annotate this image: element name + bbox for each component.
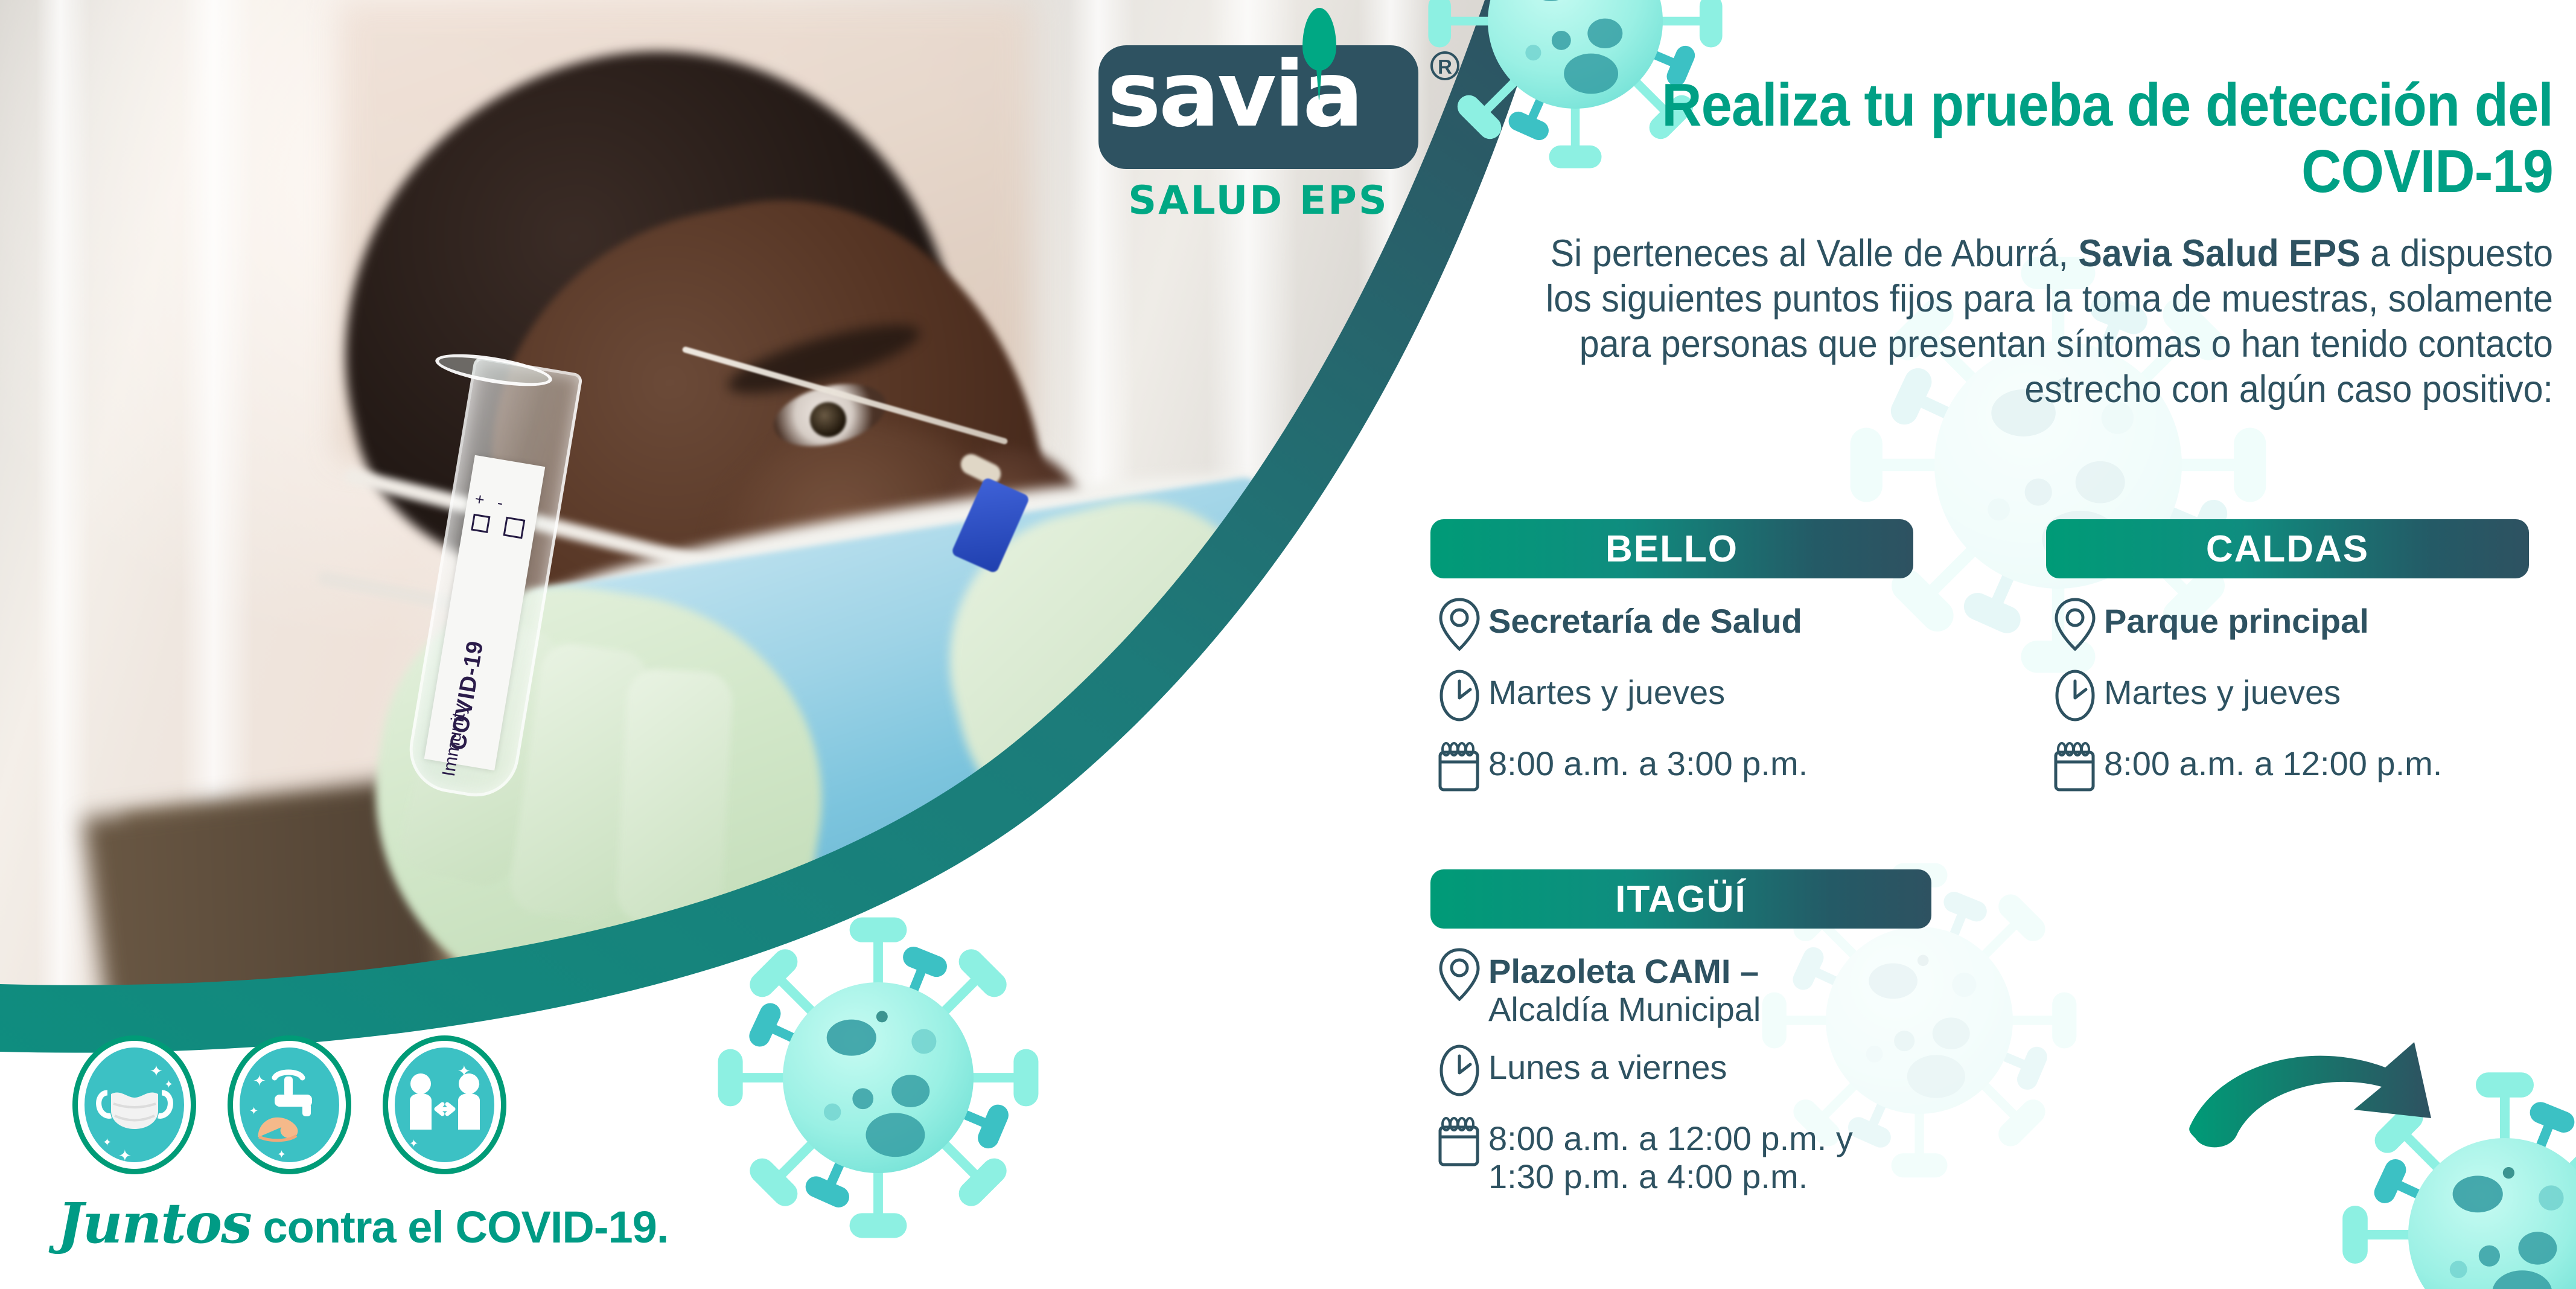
map-pin-icon xyxy=(2046,595,2104,653)
sparkle-icon: ✦ xyxy=(118,1148,132,1162)
card-place-sub: Alcaldía Municipal xyxy=(1488,991,1761,1029)
card-place-main: Plazoleta CAMI – xyxy=(1488,952,1759,990)
sparkle-icon: ✦ xyxy=(103,1137,112,1148)
card-row-days: Martes y jueves xyxy=(2046,667,2529,724)
sparkle-icon: ✦ xyxy=(409,1138,418,1149)
card-header-caldas: CALDAS xyxy=(2046,519,2529,578)
label-plus-minus: +- xyxy=(473,490,517,515)
virus-decor-main xyxy=(718,918,1039,1238)
card-title: BELLO xyxy=(1605,528,1738,571)
card-place: Parque principal xyxy=(2104,595,2369,641)
card-row-hours: 8:00 a.m. a 12:00 p.m. y 1:30 p.m. a 4:0… xyxy=(1430,1113,1931,1195)
sparkle-icon: ✦ xyxy=(249,1105,258,1116)
logo-subtitle: SALUD EPS xyxy=(1098,178,1418,223)
card-details: Secretaría de Salud Martes y jueves 8:00… xyxy=(1430,578,1913,796)
card-row-place: Secretaría de Salud xyxy=(1430,595,1913,653)
card-place: Secretaría de Salud xyxy=(1488,595,1802,641)
badge-handwashing[interactable]: ✦ ✦ ✦ xyxy=(228,1035,351,1174)
sparkle-icon: ✦ xyxy=(164,1079,173,1090)
location-card-bello[interactable]: BELLO Secretaría de Salud Martes y jueve… xyxy=(1430,519,1913,809)
map-pin-icon xyxy=(1430,945,1488,1003)
sparkle-icon: ✦ xyxy=(457,1063,471,1079)
logo-wordmark: savia xyxy=(1074,33,1394,157)
intro-paragraph: Si perteneces al Valle de Aburrá, Savia … xyxy=(1520,231,2553,412)
clock-icon xyxy=(1430,667,1488,724)
card-place: Plazoleta CAMI – Alcaldía Municipal xyxy=(1488,945,1761,1028)
sparkle-icon: ✦ xyxy=(472,1079,481,1090)
window-blind xyxy=(36,0,91,999)
card-header-bello: BELLO xyxy=(1430,519,1913,578)
tagline-bold: contra el COVID-19. xyxy=(251,1202,668,1252)
campaign-tagline: Juntos contra el COVID-19. xyxy=(57,1191,668,1256)
location-card-caldas[interactable]: CALDAS Parque principal Martes y jueves xyxy=(2046,519,2529,809)
handwashing-faucet-icon: ✦ ✦ ✦ xyxy=(240,1048,339,1162)
card-hours-line1: 8:00 a.m. a 12:00 p.m. y xyxy=(1488,1119,1853,1157)
map-pin-icon xyxy=(1430,595,1488,653)
label-checkbox-negative xyxy=(503,517,525,539)
card-title: CALDAS xyxy=(2206,528,2369,571)
card-details: Parque principal Martes y jueves 8:00 a.… xyxy=(2046,578,2529,796)
calendar-icon xyxy=(1430,1113,1488,1171)
patient-pupil xyxy=(810,402,846,437)
glove-finger xyxy=(615,668,734,927)
social-distancing-icon: ✦ ✦ ✦ xyxy=(395,1048,494,1162)
card-row-place: Plazoleta CAMI – Alcaldía Municipal xyxy=(1430,945,1931,1028)
card-hours: 8:00 a.m. a 3:00 p.m. xyxy=(1488,738,1808,783)
clock-icon xyxy=(2046,667,2104,724)
prevention-badges: ✦ ✦ ✦ ✦ ✦ ✦ ✦ xyxy=(72,1035,506,1174)
card-details: Plazoleta CAMI – Alcaldía Municipal Lune… xyxy=(1430,929,1931,1196)
card-row-hours: 8:00 a.m. a 3:00 p.m. xyxy=(1430,738,1913,796)
page-title: Realiza tu prueba de detección del COVID… xyxy=(1559,72,2553,205)
badge-face-mask[interactable]: ✦ ✦ ✦ ✦ xyxy=(72,1035,196,1174)
poster-canvas: +- COVID-19 Immunity xyxy=(0,0,2576,1289)
card-row-days: Lunes a viernes xyxy=(1430,1041,1931,1099)
content-panel: savia R SALUD EPS Realiza tu prueba de d… xyxy=(1436,0,2576,1289)
card-row-hours: 8:00 a.m. a 12:00 p.m. xyxy=(2046,738,2529,796)
calendar-icon xyxy=(1430,738,1488,796)
sparkle-icon: ✦ xyxy=(277,1149,286,1160)
face-mask-icon: ✦ ✦ ✦ ✦ xyxy=(84,1048,184,1162)
card-hours: 8:00 a.m. a 12:00 p.m. xyxy=(2104,738,2442,783)
label-checkbox-positive xyxy=(471,514,490,533)
savia-logo: savia R SALUD EPS xyxy=(1074,33,1449,232)
clock-icon xyxy=(1430,1041,1488,1099)
card-days: Lunes a viernes xyxy=(1488,1041,1727,1087)
card-hours-line2: 1:30 p.m. a 4:00 p.m. xyxy=(1488,1158,1853,1196)
card-row-place: Parque principal xyxy=(2046,595,2529,653)
card-title: ITAGÜÍ xyxy=(1615,878,1747,921)
sparkle-icon: ✦ xyxy=(253,1073,266,1089)
card-hours: 8:00 a.m. a 12:00 p.m. y 1:30 p.m. a 4:0… xyxy=(1488,1113,1853,1195)
registered-trademark-icon: R xyxy=(1430,51,1459,80)
tagline-script: Juntos xyxy=(57,1191,251,1256)
location-card-itagui[interactable]: ITAGÜÍ Plazoleta CAMI – Alcaldía Municip… xyxy=(1430,869,1931,1209)
card-days: Martes y jueves xyxy=(1488,667,1725,712)
calendar-icon xyxy=(2046,738,2104,796)
badge-social-distancing[interactable]: ✦ ✦ ✦ xyxy=(383,1035,506,1174)
card-row-days: Martes y jueves xyxy=(1430,667,1913,724)
card-header-itagui: ITAGÜÍ xyxy=(1430,869,1931,929)
sparkle-icon: ✦ xyxy=(150,1063,163,1079)
brand-mention: Savia Salud EPS xyxy=(2078,232,2360,275)
intro-part1: Si perteneces al Valle de Aburrá, xyxy=(1551,232,2079,275)
card-days: Martes y jueves xyxy=(2104,667,2341,712)
